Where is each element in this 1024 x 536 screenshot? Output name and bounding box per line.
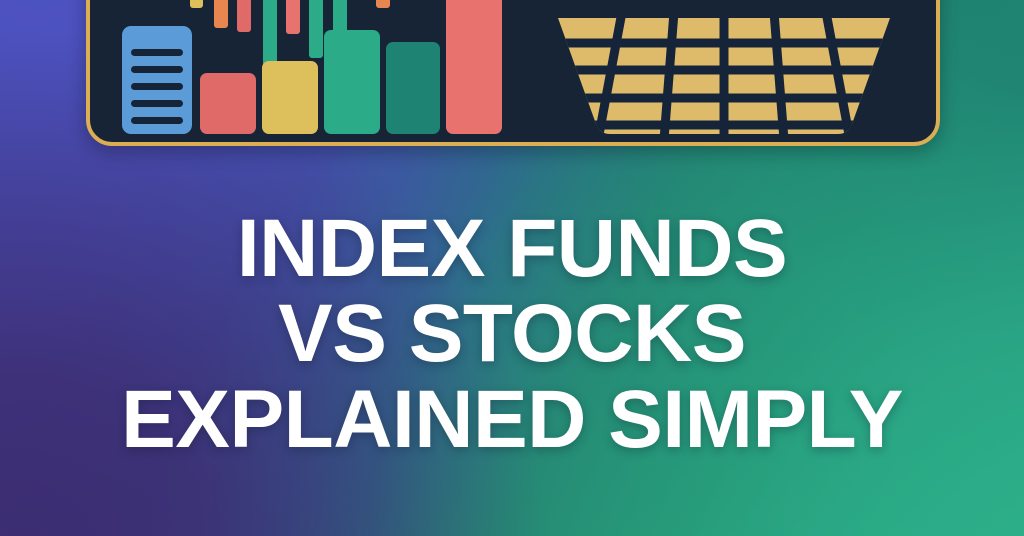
bar-4 [386, 42, 440, 134]
bar-5 [446, 0, 502, 134]
document-line [131, 100, 183, 107]
candle-2 [214, 0, 228, 28]
bar-chart-icon [90, 0, 520, 142]
headline-line-3: EXPLAINED SIMPLY [0, 377, 1024, 462]
basket-icon [512, 0, 936, 142]
page-title: INDEX FUNDS VS STOCKS EXPLAINED SIMPLY [0, 206, 1024, 462]
document-line [131, 83, 183, 90]
headline-line-2: VS STOCKS [0, 291, 1024, 376]
bar-1 [200, 73, 256, 134]
basket-icon-svg [512, 0, 936, 146]
poster-canvas: INDEX FUNDS VS STOCKS EXPLAINED SIMPLY [0, 0, 1024, 536]
document-icon [122, 26, 192, 134]
candle-9 [376, 0, 390, 8]
bar-2 [262, 61, 318, 134]
candle-5 [286, 0, 300, 34]
headline-line-1: INDEX FUNDS [0, 206, 1024, 291]
candle-6 [309, 0, 323, 58]
illustration-card-inner [90, 0, 936, 142]
candle-1 [190, 0, 203, 8]
document-line [131, 66, 183, 73]
document-line [131, 49, 183, 56]
candle-3 [237, 0, 251, 32]
candle-4 [263, 0, 277, 70]
bar-3 [324, 30, 380, 134]
illustration-card [86, 0, 940, 146]
document-line [131, 117, 183, 124]
